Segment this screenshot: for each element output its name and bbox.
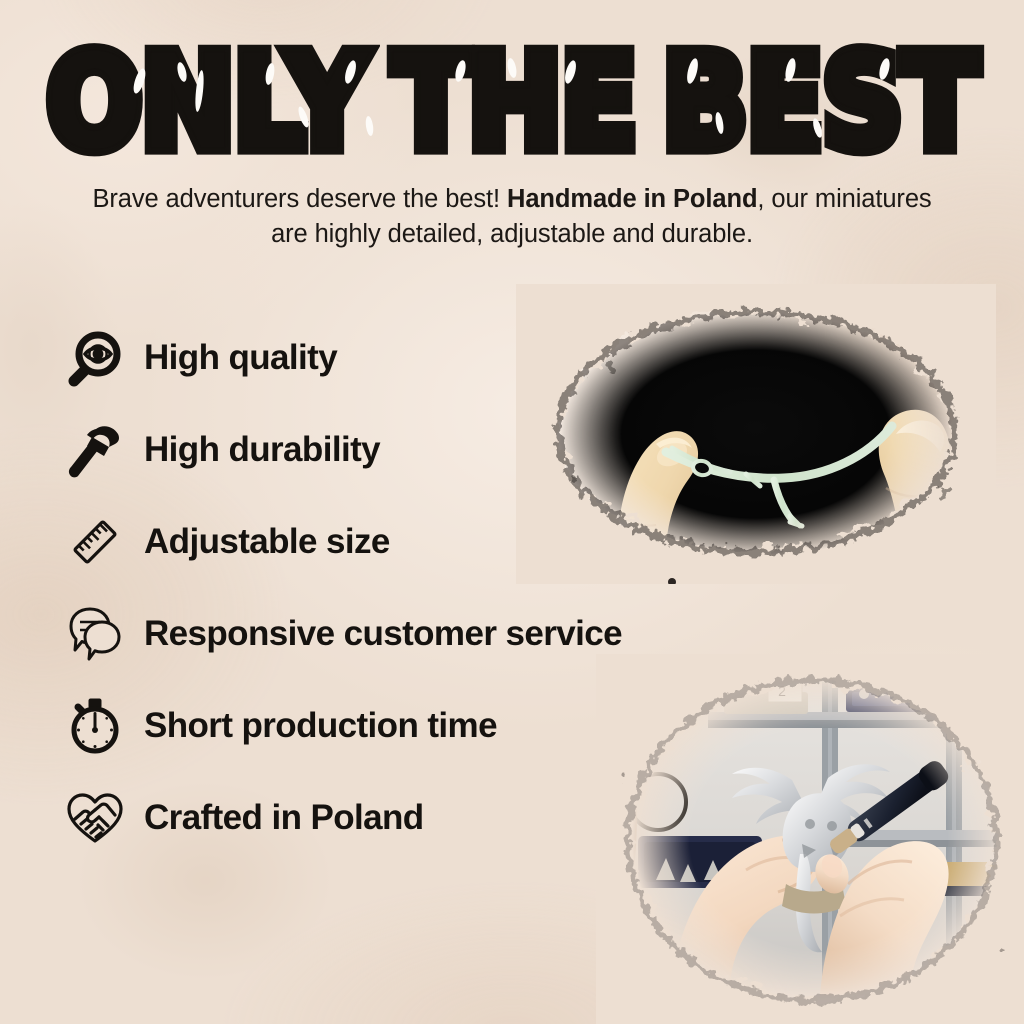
subtitle: Brave adventurers deserve the best! Hand… bbox=[72, 182, 952, 251]
subtitle-lead: Brave adventurers deserve the best! bbox=[92, 185, 500, 213]
feature-item-crafted-in-poland: Crafted in Poland bbox=[62, 772, 762, 864]
headline-word-only: ONLY bbox=[47, 38, 367, 168]
feature-label: Short production time bbox=[144, 706, 497, 746]
poster-root: 2 bbox=[0, 0, 1024, 1024]
feature-label: Adjustable size bbox=[144, 522, 390, 562]
headline-word-the: THE bbox=[393, 38, 637, 168]
feature-item-responsive-customer-service: Responsive customer service bbox=[62, 588, 762, 680]
page-title: ONLYTHEBEST bbox=[0, 38, 1024, 150]
feature-label: Crafted in Poland bbox=[144, 798, 424, 838]
handshake-heart-icon bbox=[62, 785, 128, 851]
feature-label: Responsive customer service bbox=[144, 614, 622, 654]
stopwatch-icon bbox=[62, 693, 128, 759]
feature-item-adjustable-size: Adjustable size bbox=[62, 496, 762, 588]
feature-label: High durability bbox=[144, 430, 380, 470]
ruler-icon bbox=[62, 509, 128, 575]
subtitle-bold: Handmade in Poland bbox=[507, 185, 757, 213]
svg-text:2: 2 bbox=[778, 683, 786, 699]
magnifier-eye-icon bbox=[62, 325, 128, 391]
feature-item-high-durability: High durability bbox=[62, 404, 762, 496]
speech-bubbles-icon bbox=[62, 601, 128, 667]
headline-word-best: BEST bbox=[662, 38, 977, 168]
feature-label: High quality bbox=[144, 338, 337, 378]
feature-item-short-production-time: Short production time bbox=[62, 680, 762, 772]
feature-item-high-quality: High quality bbox=[62, 312, 762, 404]
hammer-icon bbox=[62, 417, 128, 483]
feature-list: High quality High durability bbox=[62, 312, 762, 864]
